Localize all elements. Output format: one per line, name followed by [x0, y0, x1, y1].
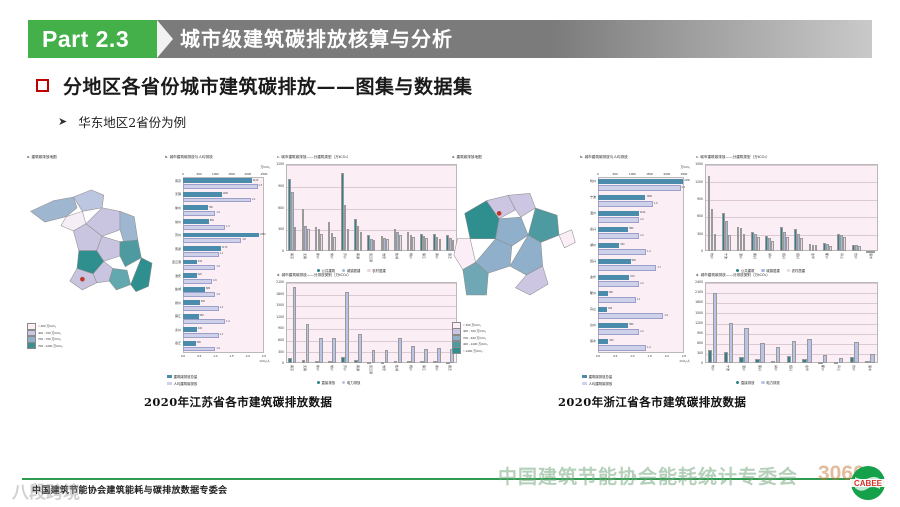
x-tick-top: 1500 — [226, 172, 238, 176]
figure-panel-jiangsu: a. 建筑碳排放地图< 400 万tCO₂400 - 700 万tCO₂700 … — [25, 155, 460, 390]
y-tick-label: 1500 — [690, 162, 703, 166]
bar-percap — [598, 313, 663, 319]
column-bar — [865, 361, 869, 363]
gridline — [706, 200, 877, 201]
x-tick-bottom: 1.0 — [209, 354, 221, 358]
column-category-label: 舟山 — [840, 253, 844, 259]
column-bar — [870, 354, 874, 363]
bar-category-label: 镇江 — [165, 314, 181, 318]
column-bar — [293, 287, 297, 363]
gridline — [287, 230, 456, 231]
bar-percap — [183, 347, 215, 352]
x-tick-top: 2000 — [661, 172, 673, 176]
bar-total — [183, 300, 200, 305]
column-bar — [815, 245, 818, 251]
legend-entry: 直接排放 — [736, 380, 754, 385]
bar-total — [598, 291, 608, 297]
bar-total — [183, 260, 197, 265]
column-category-label: 台州 — [854, 253, 858, 259]
map-region-苏州[interactable] — [131, 258, 152, 292]
footer-org: 中国建筑节能协会建筑能耗与碳排放数据专委会 — [32, 483, 227, 496]
bar-category-label: 宁波 — [580, 195, 596, 199]
figure-panel-zhejiang: a. 建筑碳排放地图< 400 万tCO₂400 - 700 万tCO₂700 … — [450, 155, 882, 390]
x-tick-bottom: 0.5 — [609, 354, 621, 358]
legend-swatch — [582, 382, 587, 385]
x-tick-top: 2500 — [258, 172, 270, 176]
bar-total-value: 950 — [632, 259, 636, 262]
map-legend: < 400 万tCO₂400 - 700 万tCO₂700 - 400 万tCO… — [452, 322, 488, 354]
bar-category-label: 南通 — [165, 247, 181, 251]
y-tick-label: 600 — [690, 214, 703, 218]
legend-label: 电力排放 — [347, 380, 361, 385]
bar-percap-value: 1.9 — [664, 314, 667, 317]
column-chart-title: d. 城市建筑碳排放——分排放类别（万tCO₂） — [696, 273, 770, 278]
bar-percap — [598, 185, 681, 191]
y-tick-label: 2400 — [690, 280, 703, 284]
column-bar — [792, 341, 796, 363]
bar-category-label: 宿迁 — [165, 341, 181, 345]
bar-percap — [183, 184, 258, 189]
column-bar — [850, 357, 854, 363]
column-bar — [385, 350, 389, 363]
chart-b-title: b. 城市建筑碳排放与人均排放 — [165, 155, 213, 160]
legend-entry: 直接排放 — [317, 380, 335, 385]
bar-percap — [598, 249, 646, 255]
bar-category-label: 金华 — [580, 275, 596, 279]
x-tick-bottom: 2.0 — [661, 354, 673, 358]
x-tick-top: 1500 — [644, 172, 656, 176]
bar-percap — [598, 281, 639, 287]
column-category-label: 衢州 — [821, 365, 825, 371]
chart-b-unit-bottom: tCO₂/人 — [680, 359, 690, 363]
bar-total — [598, 323, 628, 329]
gridline — [706, 182, 877, 183]
bar-total-value: 2350 — [260, 233, 266, 236]
map-svg — [27, 163, 161, 315]
column-chart-title: c. 城市建筑碳排放——分建筑类型（万tCO₂） — [277, 155, 351, 160]
bar-category-label: 徐州 — [165, 206, 181, 210]
column-category-label: 无锡 — [303, 253, 307, 259]
column-bar — [714, 234, 717, 251]
y-tick-label: 1200 — [690, 321, 703, 325]
bar-percap — [598, 265, 656, 271]
column-bar — [345, 292, 349, 363]
bar-total-value: 390 — [197, 341, 201, 344]
bar-total — [183, 205, 208, 210]
y-tick-label: 600 — [690, 341, 703, 345]
bar-percap-value: 1.6 — [654, 202, 657, 205]
column-bar — [358, 334, 362, 363]
map-region-连云港[interactable] — [73, 190, 103, 211]
legend-entry: 建筑碳排放总量 — [582, 374, 612, 379]
bar-category-label: 湖州 — [580, 243, 596, 247]
column-chart-title: d. 城市建筑碳排放——分排放类别（万tCO₂） — [277, 273, 351, 278]
map-region-南通[interactable] — [120, 240, 141, 267]
bar-total-value: 420 — [198, 273, 202, 276]
gridline — [706, 235, 877, 236]
bullet-sub-text: 华东地区2省份为例 — [78, 112, 186, 131]
bar-total — [598, 227, 628, 233]
bar-total-value: 260 — [608, 307, 612, 310]
bar-category-label: 衢州 — [580, 291, 596, 295]
map-legend-item: 700 - 1200 万tCO₂ — [27, 343, 63, 349]
x-tick-bottom: 0.0 — [592, 354, 604, 358]
column-category-label: 徐州 — [316, 365, 320, 371]
part-label: Part 2.3 — [42, 20, 129, 58]
bar-percap-value: 1.3 — [226, 320, 229, 323]
chart-b-legend: 建筑碳排放总量人均建筑碳排放 — [167, 374, 197, 386]
gridline — [287, 306, 456, 307]
slide-title: 城市级建筑碳排放核算与分析 — [180, 20, 453, 58]
column-bar — [744, 328, 748, 363]
bar-total — [598, 259, 631, 265]
y-tick-label: 300 — [690, 232, 703, 236]
bar-total-value: 680 — [206, 287, 210, 290]
map-legend-label: 700 - 1200 万tCO₂ — [38, 343, 63, 349]
bar-total-value: 1170 — [222, 246, 227, 249]
bar-percap — [183, 225, 225, 230]
caption-jiangsu: 2020年江苏省各市建筑碳排放数据 — [144, 394, 332, 410]
legend-swatch — [736, 381, 739, 384]
bar-percap-value: 0.9 — [213, 279, 216, 282]
column-bar — [399, 235, 402, 251]
legend-entry: 电力排放 — [342, 380, 360, 385]
bar-percap-value: 1.1 — [220, 306, 223, 309]
legend-label: 人均建筑碳排放 — [174, 381, 198, 386]
column-bar — [373, 240, 376, 251]
y-tick-label: 1500 — [690, 311, 703, 315]
bar-total-value: 2120 — [253, 179, 259, 182]
chart-b-unit-bottom: tCO₂/人 — [260, 359, 270, 363]
legend-swatch — [736, 269, 739, 272]
y-tick-label: 600 — [271, 206, 284, 210]
gridline — [287, 209, 456, 210]
map-region-丽水[interactable] — [559, 230, 575, 248]
gridline — [287, 283, 456, 284]
column-bar — [360, 232, 363, 251]
red-square-icon — [36, 79, 49, 92]
x-tick-bottom: 1.5 — [644, 354, 656, 358]
x-tick-top: 2500 — [678, 172, 690, 176]
x-tick-bottom: 2.5 — [258, 354, 270, 358]
column-category-label: 嘉兴 — [753, 253, 757, 259]
x-tick-bottom: 0.5 — [193, 354, 205, 358]
column-bar — [843, 237, 846, 251]
bar-total-value: 300 — [609, 339, 613, 342]
bar-percap — [183, 292, 215, 297]
bar-percap — [183, 252, 219, 257]
column-category-label: 泰州 — [435, 253, 439, 259]
bar-category-label: 无锡 — [165, 192, 181, 196]
column-category-label: 常州 — [330, 253, 334, 259]
column-category-label: 泰州 — [435, 365, 439, 371]
column-bar — [424, 349, 428, 363]
gridline — [706, 293, 877, 294]
column-category-label: 盐城 — [395, 253, 399, 259]
gridline — [706, 303, 877, 304]
column-category-label: 杭州 — [710, 253, 714, 259]
y-tick-label: 900 — [271, 326, 284, 330]
x-tick-bottom: 2.5 — [678, 354, 690, 358]
column-bar — [708, 350, 712, 364]
column-chart-title: c. 城市建筑碳排放——分建筑类型（万tCO₂） — [696, 155, 770, 160]
column-bar — [854, 342, 858, 363]
column-category-label: 扬州 — [409, 365, 413, 371]
column-category-label: 衢州 — [825, 253, 829, 259]
bar-category-label: 淮安 — [165, 274, 181, 278]
bar-total — [183, 178, 252, 183]
column-bar — [333, 237, 336, 252]
bar-total — [598, 275, 629, 281]
bullet-main: 分地区各省份城市建筑碳排放——图集与数据集 — [36, 72, 473, 99]
legend-label: 电力排放 — [766, 380, 780, 385]
column-category-label: 南京 — [290, 365, 294, 371]
bar-percap — [598, 201, 653, 207]
caption-zhejiang: 2020年浙江省各市建筑碳排放数据 — [558, 394, 746, 410]
bar-category-label: 苏州 — [165, 233, 181, 237]
province-map-jiangsu: a. 建筑碳排放地图< 400 万tCO₂400 - 700 万tCO₂700 … — [25, 155, 163, 355]
x-tick-top: 2000 — [242, 172, 254, 176]
gridline — [287, 187, 456, 188]
svg-text:CABEE: CABEE — [854, 479, 883, 488]
chart_d-jiangsu: d. 城市建筑碳排放——分排放类别（万tCO₂）0300600900120015… — [271, 273, 461, 385]
bar-percap — [598, 329, 639, 335]
bar-category-label: 泰州 — [165, 328, 181, 332]
column-bar — [412, 237, 415, 251]
column-category-label: 南通 — [356, 253, 360, 259]
bar-total-value: 1380 — [646, 195, 652, 198]
column-bar — [386, 239, 389, 251]
column-category-label: 温州 — [742, 365, 746, 371]
column-bar — [787, 356, 791, 363]
y-tick-label: 1200 — [690, 180, 703, 184]
x-tick-bottom: 1.5 — [226, 354, 238, 358]
column-category-label: 绍兴 — [789, 365, 793, 371]
map-title: a. 建筑碳排放地图 — [27, 155, 57, 160]
bar-percap-value: 1.1 — [637, 298, 640, 301]
column-bar — [439, 239, 442, 251]
map-legend: < 400 万tCO₂400 - 700 万tCO₂700 - 700 万tCO… — [27, 323, 63, 349]
map-legend-item: > 1400 万tCO₂ — [452, 348, 488, 354]
column-bar — [713, 293, 717, 363]
chart-b-zhejiang: b. 城市建筑碳排放与人均排放万tCO₂05001000150020002500… — [580, 155, 690, 383]
legend-entry: 电力排放 — [761, 380, 779, 385]
column-bar — [332, 338, 336, 363]
column-bar — [306, 324, 310, 363]
bar-percap-value: 2.3 — [259, 184, 262, 187]
column-category-label: 丽水 — [868, 365, 872, 371]
bar-total-value: 520 — [201, 300, 205, 303]
column-bar — [347, 229, 350, 251]
column-category-label: 金华 — [811, 253, 815, 259]
bar-percap-value: 2.4 — [682, 186, 685, 189]
bar-total — [183, 192, 222, 197]
column-bar — [307, 229, 310, 251]
legend-swatch — [367, 269, 370, 272]
column-category-label: 宁波 — [724, 253, 728, 259]
bar-total — [183, 341, 196, 346]
bar-total-value: 480 — [200, 314, 204, 317]
column-category-label: 金华 — [805, 365, 809, 371]
column-category-label: 镇江 — [422, 365, 426, 371]
bar-total-value: 880 — [629, 323, 633, 326]
x-tick-top: 0 — [592, 172, 604, 176]
column-bar — [834, 362, 838, 364]
capital-marker-icon — [497, 211, 502, 216]
legend-swatch — [761, 381, 764, 384]
column-category-label: 湖州 — [774, 365, 778, 371]
column-bar — [319, 338, 323, 363]
bar-total-value: 800 — [210, 219, 214, 222]
chart-b-unit-top: 万tCO₂ — [261, 165, 271, 169]
column-category-label: 嘉兴 — [758, 365, 762, 371]
column-bar — [320, 234, 323, 251]
gridline — [287, 341, 456, 342]
bar-percap-value: 1.2 — [640, 234, 643, 237]
map-region-无锡[interactable] — [109, 268, 130, 289]
bar-total — [183, 219, 209, 224]
y-tick-label: 300 — [271, 350, 284, 354]
column-category-label: 常州 — [330, 365, 334, 371]
x-tick-top: 500 — [193, 172, 205, 176]
bar-category-label: 杭州 — [580, 179, 596, 183]
bar-total — [183, 246, 221, 251]
gridline — [706, 313, 877, 314]
legend-swatch — [342, 381, 345, 384]
column-bar — [829, 246, 832, 251]
bar-total — [598, 195, 645, 201]
column-bar — [743, 234, 746, 251]
legend-swatch — [787, 269, 790, 272]
bar-percap — [183, 279, 212, 284]
column-category-label: 无锡 — [303, 365, 307, 371]
map-svg — [452, 163, 588, 320]
column-bar — [411, 346, 415, 363]
legend-entry: 人均建筑碳排放 — [167, 381, 197, 386]
watermark-main: 中国建筑节能协会能耗统计专委会 — [498, 462, 798, 489]
column-category-label: 苏州 — [343, 253, 347, 259]
chart-b-unit-top: 万tCO₂ — [681, 165, 691, 169]
legend-swatch — [582, 375, 587, 378]
bar-percap — [598, 345, 646, 351]
bar-percap-value: 1.2 — [640, 282, 643, 285]
map-region-宁波[interactable] — [528, 208, 559, 242]
legend-swatch — [167, 375, 172, 378]
bar-percap-value: 1.8 — [242, 238, 245, 241]
column-category-label: 湖州 — [768, 253, 772, 259]
bar-category-label: 嘉兴 — [580, 227, 596, 231]
map-legend-swatch — [452, 347, 461, 354]
bar-total-value: 280 — [609, 291, 613, 294]
y-tick-label: 0 — [690, 361, 703, 365]
bar-percap-value: 1.3 — [226, 225, 229, 228]
chart-b-title: b. 城市建筑碳排放与人均排放 — [580, 155, 628, 160]
province-map-zhejiang: a. 建筑碳排放地图< 400 万tCO₂400 - 700 万tCO₂700 … — [450, 155, 590, 360]
x-tick-top: 500 — [609, 172, 621, 176]
bar-total — [598, 211, 639, 217]
y-tick-label: 900 — [690, 197, 703, 201]
column-category-label: 扬州 — [409, 253, 413, 259]
y-tick-label: 300 — [690, 351, 703, 355]
bar-category-label: 扬州 — [165, 301, 181, 305]
legend-swatch — [761, 269, 764, 272]
chart-b-jiangsu: b. 城市建筑碳排放与人均排放万tCO₂05001000150020002500… — [165, 155, 270, 383]
chart_c-zhejiang: c. 城市建筑碳排放——分建筑类型（万tCO₂）0300600900120015… — [690, 155, 882, 273]
y-tick-label: 900 — [271, 184, 284, 188]
gridline — [287, 318, 456, 319]
column-chart-plot — [705, 164, 878, 251]
legend-label: 建筑碳排放总量 — [589, 374, 613, 379]
column-category-label: 杭州 — [711, 365, 715, 371]
bar-category-label: 舟山 — [580, 307, 596, 311]
header-notch — [157, 20, 173, 58]
chart_d-zhejiang: d. 城市建筑碳排放——分排放类别（万tCO₂）0300600900120015… — [690, 273, 882, 385]
bar-total-value: 880 — [629, 227, 633, 230]
bar-total — [183, 287, 205, 292]
map-legend-swatch — [27, 342, 36, 349]
column-category-label: 连云港 — [369, 365, 373, 374]
legend-swatch — [317, 381, 320, 384]
x-tick-bottom: 2.0 — [242, 354, 254, 358]
column-category-label: 镇江 — [422, 253, 426, 259]
y-tick-label: 300 — [271, 227, 284, 231]
bar-total — [598, 307, 607, 313]
bar-percap — [183, 319, 225, 324]
bar-percap — [183, 306, 219, 311]
column-category-label: 淮安 — [382, 253, 386, 259]
y-tick-label: 1200 — [271, 162, 284, 166]
y-tick-label: 0 — [271, 249, 284, 253]
gridline — [706, 283, 877, 284]
x-tick-bottom: 1.0 — [626, 354, 638, 358]
bar-category-label: 温州 — [580, 211, 596, 215]
footer-divider — [22, 478, 878, 480]
bar-total-value: 430 — [198, 260, 202, 263]
column-chart-legend: 直接排放电力排放 — [317, 380, 361, 385]
column-bar — [739, 357, 743, 363]
column-bar — [802, 359, 806, 363]
y-tick-label: 0 — [690, 249, 703, 253]
bar-percap-value: 1.0 — [216, 211, 219, 214]
gridline — [287, 329, 456, 330]
column-chart-legend: 直接排放电力排放 — [736, 380, 780, 385]
column-bar — [755, 359, 759, 363]
y-tick-label: 0 — [271, 361, 284, 365]
bar-total — [598, 179, 683, 185]
column-category-label: 南京 — [290, 253, 294, 259]
column-bar — [760, 343, 764, 363]
column-bar — [839, 358, 843, 363]
column-category-label: 苏州 — [343, 365, 347, 371]
column-bar — [757, 237, 760, 252]
y-tick-label: 1800 — [271, 292, 284, 296]
column-bar — [776, 347, 780, 363]
x-tick-top: 1000 — [209, 172, 221, 176]
x-tick-top: 0 — [177, 172, 189, 176]
legend-swatch — [342, 269, 345, 272]
map-legend-label: > 1400 万tCO₂ — [463, 348, 483, 354]
bar-percap — [598, 217, 639, 223]
legend-entry: 建筑碳排放总量 — [167, 374, 197, 379]
bar-category-label: 绍兴 — [580, 259, 596, 263]
column-bar — [771, 361, 775, 363]
y-tick-label: 1200 — [271, 315, 284, 319]
bar-total — [183, 233, 259, 238]
map-title: a. 建筑碳排放地图 — [452, 155, 482, 160]
column-category-label: 丽水 — [869, 253, 873, 259]
column-bar — [294, 227, 297, 251]
legend-swatch — [317, 269, 320, 272]
